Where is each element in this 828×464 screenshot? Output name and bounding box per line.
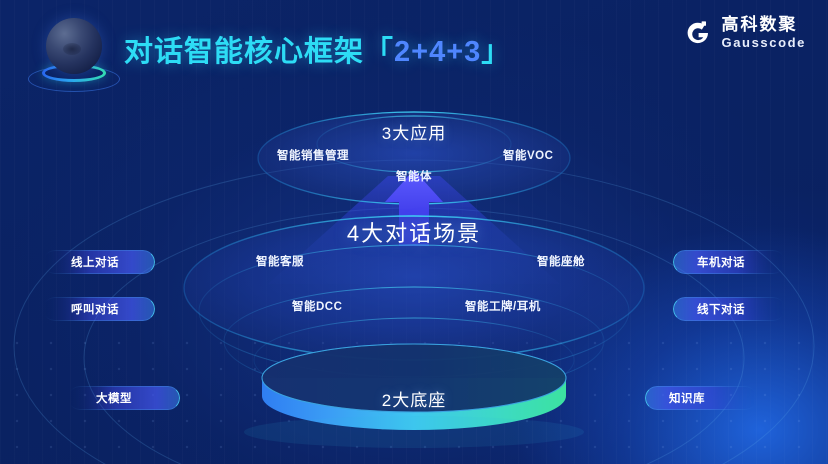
pill-label: 呼叫对话 bbox=[71, 301, 119, 317]
pill-knowledge-base[interactable]: 知识库 bbox=[645, 386, 705, 410]
gausscode-mark-icon bbox=[683, 18, 713, 48]
brand-logo: 高科数聚 Gausscode bbox=[683, 16, 807, 49]
pill-online-dialogue[interactable]: 线上对话 bbox=[43, 250, 119, 274]
middle-layer-label-4: 智能工牌/耳机 bbox=[465, 298, 541, 314]
pill-label: 线上对话 bbox=[71, 254, 119, 270]
brand-text: 高科数聚 Gausscode bbox=[722, 16, 807, 49]
brand-name-cn: 高科数聚 bbox=[722, 16, 807, 33]
middle-layer-title: 4大对话场景 bbox=[347, 216, 481, 248]
page-title-number: 2+4+3 bbox=[394, 36, 481, 68]
pill-label: 大模型 bbox=[96, 390, 132, 406]
pill-large-model[interactable]: 大模型 bbox=[68, 386, 132, 410]
page-title-prefix: 对话智能核心框架「 bbox=[124, 36, 394, 68]
pill-label: 车机对话 bbox=[697, 254, 745, 270]
pill-label: 线下对话 bbox=[697, 301, 745, 317]
framework-diagram: 3大应用 智能销售管理 智能VOC 智能体 4大对话场景 智能客服 智能座舱 智… bbox=[0, 96, 828, 464]
pill-offline-dialogue[interactable]: 线下对话 bbox=[673, 297, 745, 321]
brand-name-en: Gausscode bbox=[722, 36, 807, 49]
middle-layer-label-1: 智能客服 bbox=[256, 253, 304, 269]
sphere-orb-icon bbox=[24, 14, 120, 94]
pill-label: 知识库 bbox=[669, 390, 705, 406]
middle-layer-label-3: 智能DCC bbox=[292, 298, 342, 314]
page-title-suffix: 」 bbox=[481, 36, 511, 68]
middle-layer-label-2: 智能座舱 bbox=[537, 253, 585, 269]
top-layer-label-left: 智能销售管理 bbox=[277, 147, 349, 163]
bottom-layer-title: 2大底座 bbox=[382, 386, 446, 411]
top-layer-label-right: 智能VOC bbox=[503, 147, 553, 163]
page-title: 对话智能核心框架「2+4+3」 bbox=[124, 28, 511, 70]
top-layer-title: 3大应用 bbox=[382, 119, 446, 144]
top-layer-label-bottom: 智能体 bbox=[396, 168, 432, 184]
pill-call-dialogue[interactable]: 呼叫对话 bbox=[43, 297, 119, 321]
slide-header: 对话智能核心框架「2+4+3」 高科数聚 Gausscode bbox=[0, 0, 828, 96]
orb-ball-icon bbox=[46, 18, 102, 74]
slide-canvas: 对话智能核心框架「2+4+3」 高科数聚 Gausscode bbox=[0, 0, 828, 464]
pill-invehicle-dialogue[interactable]: 车机对话 bbox=[673, 250, 745, 274]
